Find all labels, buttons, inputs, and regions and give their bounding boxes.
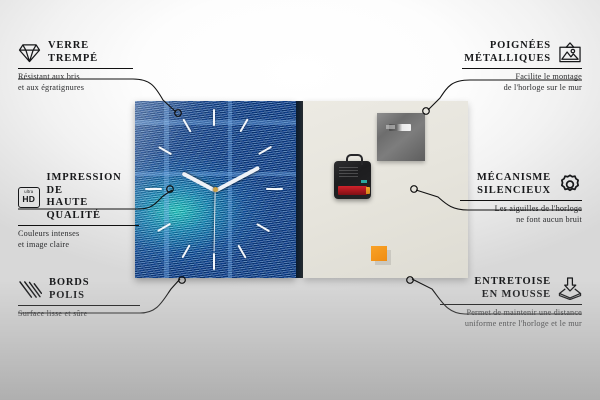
callout-title-line1: VERRE	[48, 40, 98, 53]
callout-desc-line1: Couleurs intenses	[18, 229, 139, 240]
callout-desc-line1: Résistant aux bris	[18, 72, 133, 83]
callout-rule	[18, 305, 140, 306]
battery	[338, 186, 367, 195]
callout-rule	[460, 200, 582, 201]
mechanism-marking	[361, 180, 367, 183]
callout-desc-line1: Les aiguilles de l'horloge	[460, 204, 582, 215]
callout-title-line2: SILENCIEUX	[460, 185, 551, 198]
callout-desc-line1: Permet de maintenir une distance	[440, 308, 582, 319]
callout-title-line2: MÉTALLIQUES	[462, 53, 551, 66]
callout-desc-line1: Surface lisse et sûre	[18, 309, 140, 320]
clock-mechanism	[334, 161, 371, 199]
callout-title-line2: HAUTE QUALITÉ	[47, 197, 139, 222]
metal-hanger-plate	[377, 113, 425, 161]
callout-desc-line2: et aux égratignures	[18, 83, 133, 94]
glass-edge	[296, 101, 303, 278]
ultra-hd-icon: ultra HD	[18, 187, 40, 208]
callout-poignees-metalliques: POIGNÉES MÉTALLIQUES Facilite le montage…	[462, 40, 582, 93]
clock-face	[135, 101, 296, 278]
callout-title-line2: TREMPÉ	[48, 53, 98, 66]
foam-spacer	[371, 246, 387, 261]
callout-header: BORDS POLIS	[18, 277, 140, 302]
callout-rule	[440, 304, 582, 305]
callout-title-line1: IMPRESSION DE	[47, 172, 139, 197]
callout-verre-trempe: VERRE TREMPÉ Résistant aux bris et aux é…	[18, 40, 133, 93]
hanging-frame-icon	[558, 42, 582, 64]
clock-back-panel	[303, 101, 468, 278]
callout-header: VERRE TREMPÉ	[18, 40, 133, 65]
infographic-stage: VERRE TREMPÉ Résistant aux bris et aux é…	[0, 0, 600, 400]
clock-center-pin	[213, 187, 218, 192]
callout-rule	[18, 225, 139, 226]
callout-desc-line2: ne font aucun bruit	[460, 215, 582, 226]
gear-icon	[558, 173, 582, 196]
diamond-icon	[18, 43, 41, 63]
callout-rule	[18, 68, 133, 69]
callout-mecanisme-silencieux: MÉCANISME SILENCIEUX Les aiguilles de l'…	[460, 172, 582, 225]
callout-rule	[462, 68, 582, 69]
callout-title-line2: POLIS	[49, 290, 89, 303]
arrow-down-pad-icon	[558, 277, 582, 300]
hanger-slot-secondary	[386, 125, 395, 129]
callout-desc-line2: de l'horloge sur le mur	[462, 83, 582, 94]
callout-title-line1: POIGNÉES	[462, 40, 551, 53]
callout-desc-line2: uniforme entre l'horloge et le mur	[440, 319, 582, 330]
callout-header: ENTRETOISE EN MOUSSE	[440, 276, 582, 301]
polished-edge-icon	[18, 280, 42, 300]
callout-header: MÉCANISME SILENCIEUX	[460, 172, 582, 197]
callout-desc-line2: et image claire	[18, 240, 139, 251]
callout-title-line1: ENTRETOISE	[440, 276, 551, 289]
callout-desc-line1: Facilite le montage	[462, 72, 582, 83]
callout-header: ultra HD IMPRESSION DE HAUTE QUALITÉ	[18, 172, 139, 222]
ultra-hd-icon-big-text: HD	[22, 195, 35, 204]
callout-entretoise-en-mousse: ENTRETOISE EN MOUSSE Permet de maintenir…	[440, 276, 582, 329]
callout-title-line1: BORDS	[49, 277, 89, 290]
product-image	[135, 101, 468, 278]
callout-bords-polis: BORDS POLIS Surface lisse et sûre	[18, 277, 140, 320]
callout-header: POIGNÉES MÉTALLIQUES	[462, 40, 582, 65]
callout-impression-haute-qualite: ultra HD IMPRESSION DE HAUTE QUALITÉ Cou…	[18, 172, 139, 250]
callout-title-line2: EN MOUSSE	[440, 289, 551, 302]
callout-title-line1: MÉCANISME	[460, 172, 551, 185]
mechanism-hanger-loop	[346, 154, 363, 165]
mechanism-label	[339, 167, 358, 179]
